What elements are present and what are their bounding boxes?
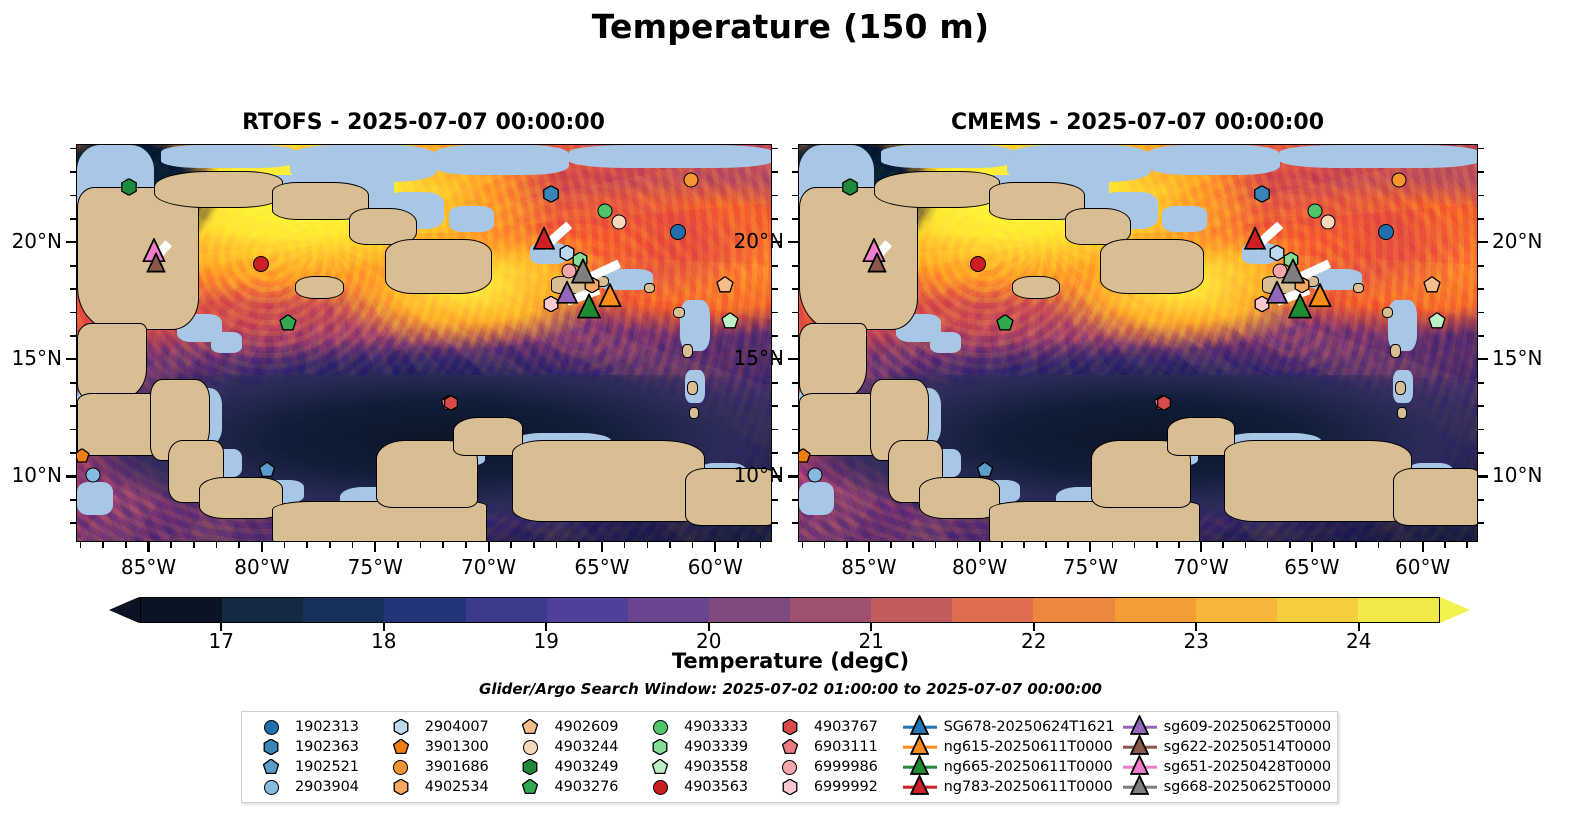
map-canvas-cmems (799, 145, 1477, 541)
argo-marker-3901300[interactable] (799, 449, 811, 464)
x-tick (1378, 542, 1380, 548)
argo-marker-4903244[interactable] (1321, 215, 1336, 230)
argo-marker-1902313[interactable] (1378, 224, 1394, 240)
legend-item-4902534[interactable]: 4902534 (378, 777, 506, 797)
y-tick (792, 195, 798, 197)
x-axis-label: 65°W (557, 555, 647, 579)
y-tick (1478, 148, 1484, 150)
colorbar-band (1196, 598, 1277, 622)
y-axis-label: 15°N (688, 346, 784, 370)
legend-item-6903111[interactable]: 6903111 (767, 737, 895, 757)
x-tick (846, 542, 848, 548)
legend-item-4903767[interactable]: 4903767 (767, 717, 895, 737)
legend-label: sg622-20250514T0000 (1164, 739, 1331, 755)
x-tick (533, 542, 535, 548)
y-axis-label: 20°N (688, 229, 784, 253)
x-tick (935, 542, 937, 548)
y-tick (1478, 288, 1484, 290)
legend-item-4903249[interactable]: 4903249 (507, 757, 635, 777)
x-tick (1267, 542, 1269, 548)
x-axis-label: 60°W (670, 555, 760, 579)
shelf-region (930, 332, 961, 353)
map-panel-cmems[interactable] (798, 144, 1478, 542)
argo-marker-1902313[interactable] (670, 224, 686, 240)
y-tick (792, 288, 798, 290)
landmass (919, 477, 1001, 519)
y-tick (70, 195, 76, 197)
y-tick (772, 171, 778, 173)
y-axis-label: 10°N (1492, 463, 1542, 487)
glider-marker-ng783-20250611T0000[interactable] (1244, 227, 1266, 254)
legend-label: 4903767 (814, 719, 878, 735)
shelf-region (433, 145, 569, 175)
landmass (1100, 239, 1204, 295)
x-tick (1222, 542, 1224, 548)
argo-legend-marker (384, 737, 418, 757)
glider-marker-ng783-20250611T0000[interactable] (533, 227, 555, 254)
argo-legend-marker (254, 757, 288, 777)
glider-legend-marker (1123, 717, 1157, 737)
y-tick (70, 405, 76, 407)
legend-label: 3901300 (425, 739, 489, 755)
argo-marker-1902521[interactable] (259, 462, 275, 478)
landmass (295, 276, 345, 299)
landmass (799, 323, 867, 400)
x-axis-label: 70°W (444, 555, 534, 579)
legend-label: 1902363 (295, 739, 359, 755)
legend-label: 4903333 (684, 719, 748, 735)
argo-legend-marker (643, 777, 677, 797)
legend-item-4903558[interactable]: 4903558 (637, 757, 765, 777)
glider-marker-sg609-20250625T0000[interactable] (556, 281, 578, 308)
shelf-region (1280, 145, 1477, 168)
legend-label: SG678-20250624T1621 (944, 719, 1115, 735)
x-tick (465, 542, 467, 548)
legend-item-2904007[interactable]: 2904007 (378, 717, 506, 737)
x-tick (1466, 542, 1468, 548)
landmass (1012, 276, 1061, 299)
legend-label: 3901686 (425, 759, 489, 775)
legend-label: 6903111 (814, 739, 878, 755)
shelf-region (1162, 206, 1206, 232)
y-tick (70, 522, 76, 524)
y-axis-label: 15°N (0, 346, 62, 370)
y-tick (1478, 405, 1484, 407)
x-tick (397, 542, 399, 548)
argo-marker-3901300[interactable] (77, 449, 89, 464)
legend-label: ng783-20250611T0000 (944, 779, 1113, 795)
y-tick (772, 312, 778, 314)
x-tick (1089, 542, 1091, 552)
legend-item-6999992[interactable]: 6999992 (767, 777, 895, 797)
x-tick (510, 542, 512, 548)
y-tick (70, 288, 76, 290)
y-axis-label: 20°N (0, 229, 62, 253)
x-axis-label: 75°W (330, 555, 420, 579)
y-tick (772, 195, 778, 197)
colorbar-band (1358, 598, 1439, 622)
legend-item-1902313[interactable]: 1902313 (248, 717, 376, 737)
y-tick (70, 382, 76, 384)
glider-legend-marker (903, 737, 937, 757)
y-tick (66, 241, 76, 243)
x-tick (912, 542, 914, 548)
shelf-region (449, 206, 494, 232)
y-tick (1478, 241, 1488, 243)
glider-marker-ng615-20250611T0000[interactable] (598, 283, 621, 311)
argo-marker-2903904[interactable] (85, 468, 100, 483)
colorbar[interactable] (110, 597, 1470, 623)
x-tick (1023, 542, 1025, 548)
y-tick (792, 382, 798, 384)
legend-label: 1902521 (295, 759, 359, 775)
y-tick (1478, 522, 1484, 524)
shelf-region (161, 145, 297, 168)
glider-marker-sg622-20250514T0000[interactable] (147, 252, 166, 276)
colorbar-band (1277, 598, 1358, 622)
x-tick (216, 542, 218, 548)
legend-label: ng615-20250611T0000 (944, 739, 1113, 755)
glider-legend-marker (1123, 757, 1157, 777)
x-tick (306, 542, 308, 548)
y-tick (70, 265, 76, 267)
argo-legend-marker (384, 777, 418, 797)
landmass (1353, 283, 1364, 293)
landmass (77, 187, 199, 329)
legend-item-6999986[interactable]: 6999986 (767, 757, 895, 777)
y-tick (772, 148, 778, 150)
legend-item-1902363[interactable]: 1902363 (248, 737, 376, 757)
landmass (1224, 440, 1412, 522)
x-axis-label: 80°W (935, 555, 1025, 579)
glider-marker-sg609-20250625T0000[interactable] (1266, 281, 1288, 308)
search-window-text: Glider/Argo Search Window: 2025-07-02 01… (0, 680, 1581, 698)
x-tick (442, 542, 444, 548)
y-tick (792, 265, 798, 267)
x-tick (329, 542, 331, 548)
glider-legend-marker (1123, 737, 1157, 757)
x-tick (1200, 542, 1202, 552)
x-tick (802, 542, 804, 548)
argo-marker-4903558[interactable] (1428, 312, 1445, 329)
shelf-region (211, 332, 243, 353)
landmass (874, 171, 1000, 208)
x-tick (979, 542, 981, 552)
y-tick (792, 499, 798, 501)
y-tick (772, 265, 778, 267)
y-tick (1478, 499, 1484, 501)
argo-marker-1902363[interactable] (1253, 186, 1270, 203)
legend-item-sg668-20250625T0000[interactable]: sg668-20250625T0000 (1117, 777, 1331, 797)
y-tick (1478, 171, 1484, 173)
argo-marker-4903244[interactable] (611, 215, 626, 230)
y-tick (772, 499, 778, 501)
landmass (154, 171, 283, 208)
x-axis-label: 75°W (1045, 555, 1135, 579)
legend-item-2903904[interactable]: 2903904 (248, 777, 376, 797)
landmass (512, 440, 704, 522)
x-tick (1112, 542, 1114, 548)
landmass (1393, 468, 1477, 526)
argo-marker-2903904[interactable] (807, 468, 822, 483)
legend-item-SG678-20250624T1621[interactable]: SG678-20250624T1621 (897, 717, 1115, 737)
x-tick (957, 542, 959, 548)
x-tick (147, 542, 149, 552)
legend-item-ng783-20250611T0000[interactable]: ng783-20250611T0000 (897, 777, 1115, 797)
map-canvas-rtofs (77, 145, 771, 541)
legend-label: ng665-20250611T0000 (944, 759, 1113, 775)
y-tick (1478, 358, 1488, 360)
legend-item-3901686[interactable]: 3901686 (378, 757, 506, 777)
x-tick (261, 542, 263, 552)
argo-marker-1902521[interactable] (977, 462, 993, 478)
argo-marker-4902609[interactable] (717, 277, 734, 294)
landmass (199, 477, 283, 519)
legend-item-4903276[interactable]: 4903276 (507, 777, 635, 797)
shelf-region (1147, 145, 1280, 175)
y-axis-label: 20°N (1492, 229, 1542, 253)
colorbar-extend-high (1440, 597, 1470, 623)
y-tick (70, 499, 76, 501)
argo-marker-4903276[interactable] (996, 314, 1013, 331)
legend-item-4903333[interactable]: 4903333 (637, 717, 765, 737)
argo-legend-marker (254, 717, 288, 737)
x-tick (601, 542, 603, 552)
legend-item-sg651-20250428T0000[interactable]: sg651-20250428T0000 (1117, 757, 1331, 777)
x-tick (890, 542, 892, 548)
y-tick (66, 475, 76, 477)
y-tick (1478, 382, 1484, 384)
argo-marker-4902609[interactable] (1424, 277, 1441, 294)
y-tick (772, 218, 778, 220)
glider-marker-ng615-20250611T0000[interactable] (1308, 283, 1331, 311)
argo-marker-4903249[interactable] (841, 179, 858, 196)
argo-marker-4903276[interactable] (279, 314, 296, 331)
colorbar-band (628, 598, 709, 622)
y-tick (792, 171, 798, 173)
y-tick (1478, 195, 1484, 197)
argo-legend-marker (513, 737, 547, 757)
panel-title-cmems: CMEMS - 2025-07-07 00:00:00 (797, 110, 1478, 135)
y-tick (1478, 429, 1484, 431)
argo-legend-marker (513, 717, 547, 737)
landmass (385, 239, 491, 295)
glider-legend-marker (903, 777, 937, 797)
argo-marker-3901686[interactable] (684, 173, 699, 188)
landmass (673, 307, 685, 318)
x-tick (352, 542, 354, 548)
y-tick (792, 148, 798, 150)
colorbar-band (871, 598, 952, 622)
y-tick (788, 241, 798, 243)
y-tick (70, 335, 76, 337)
legend-label: 4903558 (684, 759, 748, 775)
y-tick (792, 335, 798, 337)
x-axis-label: 80°W (217, 555, 307, 579)
x-tick (1400, 542, 1402, 548)
legend-label: sg668-20250625T0000 (1164, 779, 1331, 795)
legend-label: 4903249 (554, 759, 618, 775)
glider-marker-sg622-20250514T0000[interactable] (867, 252, 886, 276)
landmass (1397, 407, 1407, 418)
legend-item-3901300[interactable]: 3901300 (378, 737, 506, 757)
x-tick (125, 542, 127, 548)
x-tick (692, 542, 694, 548)
argo-marker-4903558[interactable] (721, 312, 738, 329)
landmass (1390, 344, 1401, 358)
argo-legend-marker (384, 717, 418, 737)
x-tick (737, 542, 739, 548)
x-tick (1178, 542, 1180, 548)
argo-marker-4903563[interactable] (970, 256, 986, 272)
y-tick (788, 475, 798, 477)
x-tick (556, 542, 558, 548)
x-tick (374, 542, 376, 552)
x-tick (1045, 542, 1047, 548)
y-tick (70, 148, 76, 150)
argo-legend-marker (773, 777, 807, 797)
legend-label: 2903904 (295, 779, 359, 795)
argo-marker-1902363[interactable] (542, 186, 559, 203)
argo-legend-marker (643, 757, 677, 777)
x-axis-label: 70°W (1156, 555, 1246, 579)
x-tick (1355, 542, 1357, 548)
legend-label: 4902534 (425, 779, 489, 795)
argo-marker-4903333[interactable] (1308, 203, 1323, 218)
legend-label: sg651-20250428T0000 (1164, 759, 1331, 775)
x-tick (647, 542, 649, 548)
x-axis-label: 85°W (824, 555, 914, 579)
y-tick (792, 429, 798, 431)
y-tick (792, 522, 798, 524)
legend-item-4903244[interactable]: 4903244 (507, 737, 635, 757)
shelf-region (569, 145, 771, 168)
argo-legend-marker (384, 757, 418, 777)
argo-marker-4903563[interactable] (253, 256, 269, 272)
colorbar-band (1115, 598, 1196, 622)
argo-legend-marker (773, 717, 807, 737)
y-tick (70, 171, 76, 173)
x-tick (1444, 542, 1446, 548)
legend-item-4903563[interactable]: 4903563 (637, 777, 765, 797)
argo-legend-marker (773, 757, 807, 777)
legend-item-1902521[interactable]: 1902521 (248, 757, 376, 777)
landmass (799, 187, 918, 329)
shelf-region (881, 145, 1014, 168)
colorbar-band (1033, 598, 1114, 622)
y-tick (1478, 335, 1484, 337)
panel-title-rtofs: RTOFS - 2025-07-07 00:00:00 (75, 110, 772, 135)
glider-legend-marker (903, 757, 937, 777)
y-tick (772, 288, 778, 290)
y-tick (792, 452, 798, 454)
legend-label: 4903563 (684, 779, 748, 795)
legend[interactable]: 1902313190236319025212903904290400739013… (241, 711, 1338, 803)
argo-legend-marker (513, 777, 547, 797)
colorbar-band (466, 598, 547, 622)
legend-item-sg622-20250514T0000[interactable]: sg622-20250514T0000 (1117, 737, 1331, 757)
colorbar-band (222, 598, 303, 622)
y-tick (772, 522, 778, 524)
legend-item-ng665-20250611T0000[interactable]: ng665-20250611T0000 (897, 757, 1115, 777)
colorbar-band (303, 598, 384, 622)
shelf-region (799, 482, 834, 515)
argo-marker-4903767[interactable] (1157, 395, 1172, 410)
x-tick (193, 542, 195, 548)
x-tick (284, 542, 286, 548)
legend-item-4903339[interactable]: 4903339 (637, 737, 765, 757)
argo-legend-marker (643, 717, 677, 737)
x-tick (420, 542, 422, 548)
landmass (77, 323, 147, 400)
x-axis-label: 60°W (1378, 555, 1468, 579)
legend-label: 6999992 (814, 779, 878, 795)
argo-legend-marker (254, 737, 288, 757)
y-tick (772, 335, 778, 337)
y-tick (70, 312, 76, 314)
colorbar-band (790, 598, 871, 622)
x-tick (669, 542, 671, 548)
argo-marker-4903767[interactable] (444, 395, 459, 410)
argo-marker-3901686[interactable] (1392, 173, 1407, 188)
y-tick (772, 452, 778, 454)
landmass (1382, 307, 1394, 318)
legend-label: 6999986 (814, 759, 878, 775)
x-tick (80, 542, 82, 548)
y-tick (792, 312, 798, 314)
y-tick (792, 218, 798, 220)
map-panel-rtofs[interactable] (76, 144, 772, 542)
y-tick (772, 429, 778, 431)
legend-label: 4903339 (684, 739, 748, 755)
argo-marker-4903333[interactable] (598, 203, 613, 218)
legend-item-sg609-20250625T0000[interactable]: sg609-20250625T0000 (1117, 717, 1331, 737)
legend-label: 2904007 (425, 719, 489, 735)
x-tick (1289, 542, 1291, 548)
y-tick (788, 358, 798, 360)
colorbar-band (952, 598, 1033, 622)
landmass (689, 407, 699, 418)
landmass (644, 283, 655, 293)
x-tick (102, 542, 104, 548)
argo-marker-4903249[interactable] (121, 179, 138, 196)
x-tick (760, 542, 762, 548)
y-tick (1478, 312, 1484, 314)
colorbar-bands (140, 597, 1440, 623)
legend-item-ng615-20250611T0000[interactable]: ng615-20250611T0000 (897, 737, 1115, 757)
colorbar-band (547, 598, 628, 622)
colorbar-band (384, 598, 465, 622)
legend-item-4902609[interactable]: 4902609 (507, 717, 635, 737)
argo-legend-marker (254, 777, 288, 797)
figure-title: Temperature (150 m) (0, 7, 1581, 46)
y-tick (1478, 475, 1488, 477)
x-tick (1333, 542, 1335, 548)
y-tick (772, 382, 778, 384)
x-tick (714, 542, 716, 552)
glider-legend-marker (1123, 777, 1157, 797)
legend-label: 4903276 (554, 779, 618, 795)
colorbar-title: Temperature (degC) (0, 649, 1581, 673)
x-axis-label: 65°W (1267, 555, 1357, 579)
y-tick (70, 429, 76, 431)
x-tick (1001, 542, 1003, 548)
x-axis-label: 85°W (104, 555, 194, 579)
argo-legend-marker (513, 757, 547, 777)
y-axis-label: 10°N (688, 463, 784, 487)
y-axis-label: 15°N (1492, 346, 1542, 370)
x-tick (170, 542, 172, 548)
